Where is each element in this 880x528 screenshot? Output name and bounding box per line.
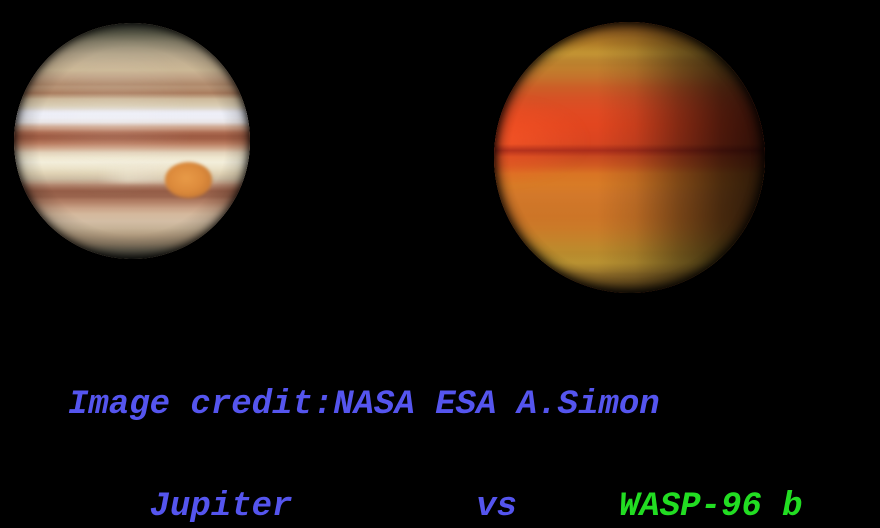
jupiter-planet-image <box>14 23 250 259</box>
wasp96b-planet-image <box>494 22 765 293</box>
comparison-vs-label: vs <box>476 488 517 526</box>
wasp96b-soft-edge <box>494 22 765 293</box>
jupiter-soft-edge <box>14 23 250 259</box>
comparison-right-label: WASP-96 b <box>619 488 803 526</box>
comparison-caption: Jupiter vs WASP-96 b <box>68 456 803 528</box>
image-credit-text: Image credit:NASA ESA A.Simon <box>68 388 660 422</box>
comparison-left-label: Jupiter <box>150 488 293 526</box>
image-canvas: Image credit:NASA ESA A.Simon Jupiter vs… <box>0 0 880 528</box>
caption-spacer-1 <box>292 488 476 526</box>
caption-spacer-2 <box>517 488 619 526</box>
